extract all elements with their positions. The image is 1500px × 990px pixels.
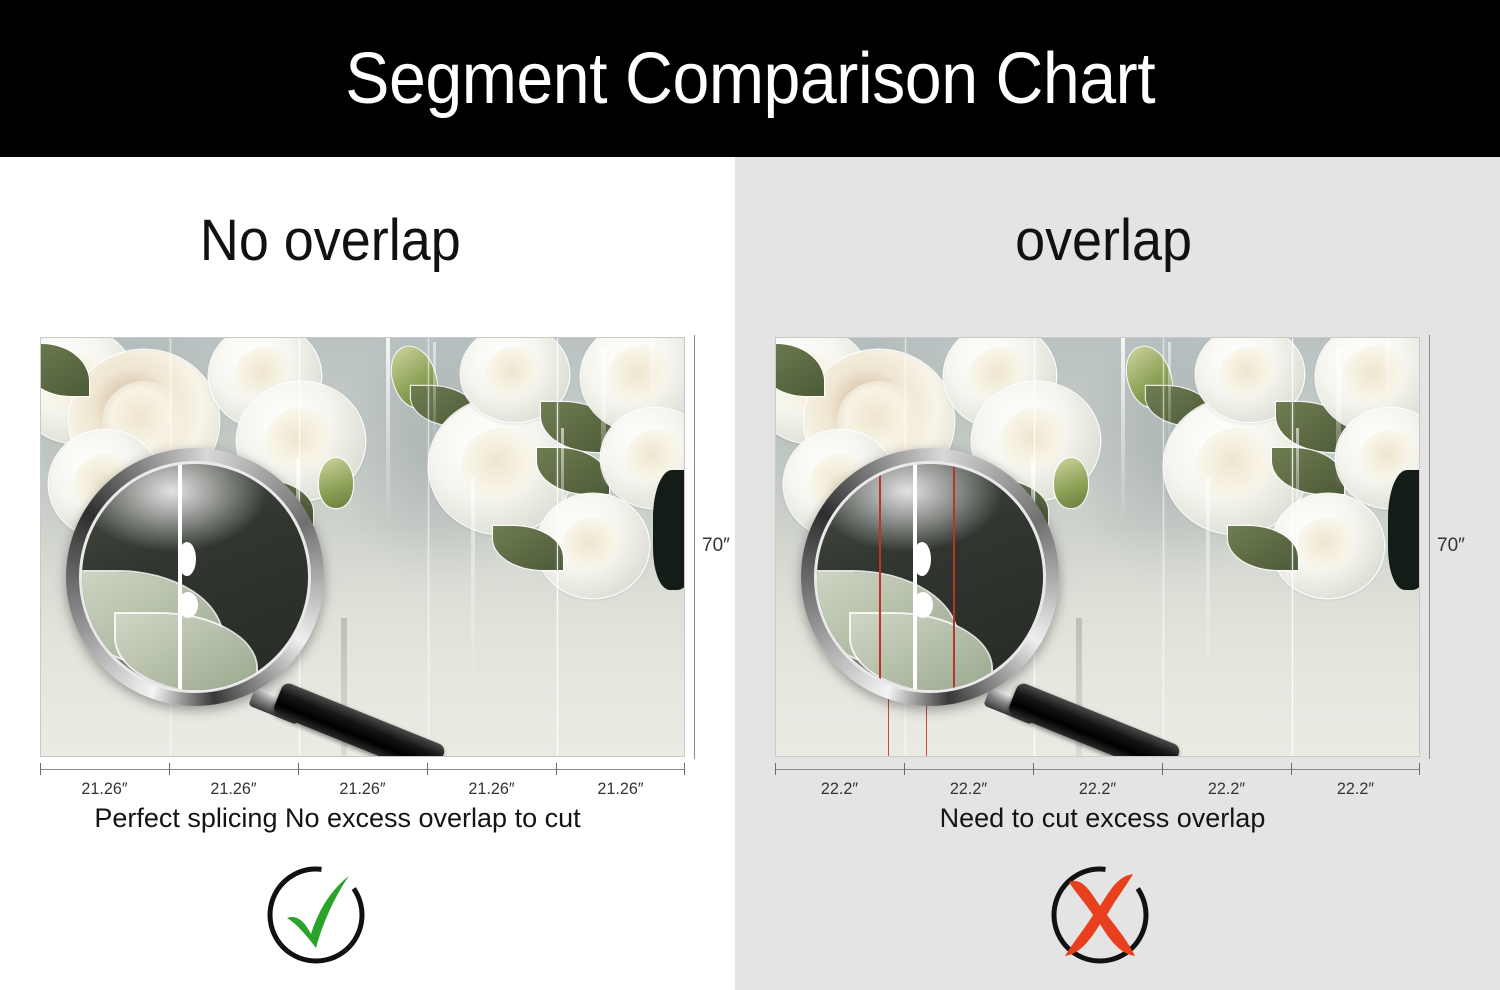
- height-dimension-label: 70″: [702, 535, 730, 557]
- caption-no-overlap: Perfect splicing No excess overlap to cu…: [0, 802, 735, 834]
- height-dimension-line: [1429, 335, 1430, 759]
- floral-mural-image: [40, 337, 685, 757]
- floral-mural-image: [775, 337, 1420, 757]
- mural-figure-no-overlap: 70″ 21.26″ 21.26″ 21.26″ 21.26″ 21.26″: [40, 337, 685, 757]
- cross-icon: [1047, 862, 1153, 968]
- segment-label: 21.26″: [43, 779, 166, 799]
- status-badge-check: [263, 862, 369, 968]
- segment-label: 22.2″: [907, 779, 1030, 799]
- width-dimension-line: [40, 769, 685, 770]
- status-badge-cross: [1047, 862, 1153, 968]
- height-dimension-line: [694, 335, 695, 759]
- height-dimension-label: 70″: [1437, 535, 1465, 557]
- segment-label: 22.2″: [1165, 779, 1288, 799]
- segment-label: 22.2″: [1294, 779, 1417, 799]
- page-header: Segment Comparison Chart: [0, 0, 1500, 157]
- comparison-chart-page: Segment Comparison Chart No overlap: [0, 0, 1500, 990]
- width-dimension-line: [775, 769, 1420, 770]
- overlap-guide-line-magnified: [953, 464, 955, 690]
- overlap-guide-line-magnified: [879, 464, 881, 690]
- check-icon: [263, 862, 369, 968]
- panel-heading-no-overlap: No overlap: [26, 212, 710, 270]
- segment-label: 21.26″: [559, 779, 682, 799]
- segment-label: 21.26″: [301, 779, 424, 799]
- segment-label: 21.26″: [430, 779, 553, 799]
- segment-label: 22.2″: [778, 779, 901, 799]
- panel-heading-overlap: overlap: [762, 212, 1473, 270]
- caption-overlap: Need to cut excess overlap: [735, 802, 1500, 834]
- panel-no-overlap: No overlap: [0, 157, 735, 990]
- page-title: Segment Comparison Chart: [345, 43, 1155, 115]
- segment-label: 22.2″: [1036, 779, 1159, 799]
- mural-figure-overlap: 70″ 22.2″ 22.2″ 22.2″ 22.2″ 22.2″: [775, 337, 1420, 757]
- segment-label: 21.26″: [172, 779, 295, 799]
- panel-overlap: overlap: [735, 157, 1500, 990]
